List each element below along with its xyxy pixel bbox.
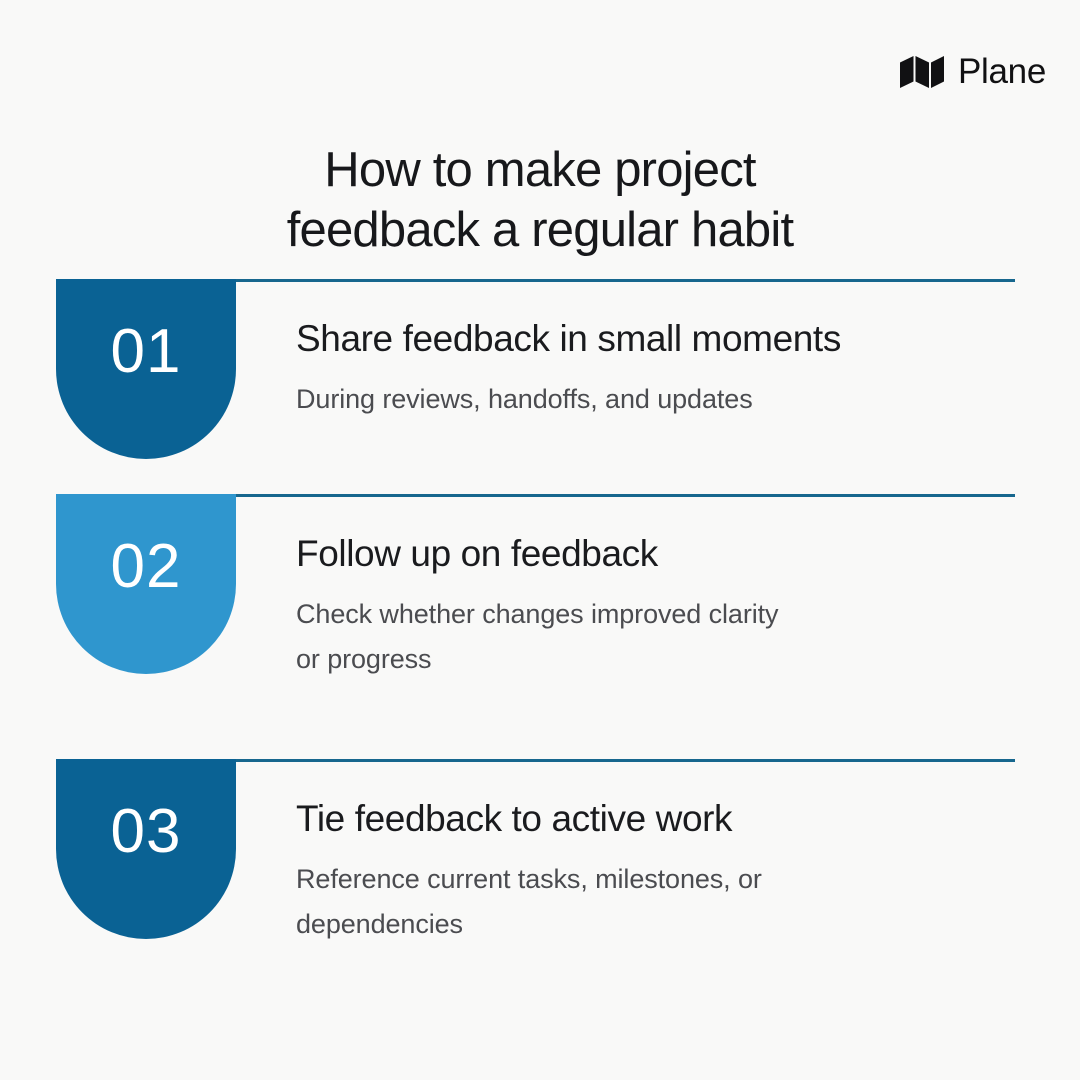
list-item: 02 Follow up on feedback Check whether c… [0, 494, 1080, 759]
step-content: Tie feedback to active work Reference cu… [296, 797, 1010, 947]
step-divider [236, 279, 1015, 282]
step-title: Follow up on feedback [296, 532, 1010, 576]
step-content: Follow up on feedback Check whether chan… [296, 532, 1010, 682]
step-divider [236, 494, 1015, 497]
plane-logo-icon [899, 55, 945, 89]
step-number-badge: 01 [56, 279, 236, 459]
step-number-badge: 02 [56, 494, 236, 674]
step-title: Share feedback in small moments [296, 317, 1010, 361]
list-item: 03 Tie feedback to active work Reference… [0, 759, 1080, 1024]
page-title: How to make project feedback a regular h… [0, 141, 1080, 261]
step-title: Tie feedback to active work [296, 797, 1010, 841]
list-item: 01 Share feedback in small moments Durin… [0, 279, 1080, 494]
brand-name: Plane [958, 54, 1046, 89]
step-number: 03 [111, 801, 182, 863]
step-description: During reviews, handoffs, and updates [296, 377, 1010, 422]
step-number-badge: 03 [56, 759, 236, 939]
brand-logo: Plane [899, 54, 1046, 89]
step-number: 02 [111, 536, 182, 598]
step-content: Share feedback in small moments During r… [296, 317, 1010, 422]
steps-list: 01 Share feedback in small moments Durin… [0, 279, 1080, 1024]
step-number: 01 [111, 321, 182, 383]
step-divider [236, 759, 1015, 762]
step-description: Reference current tasks, milestones, or … [296, 857, 1010, 948]
step-description: Check whether changes improved clarity o… [296, 592, 1010, 683]
